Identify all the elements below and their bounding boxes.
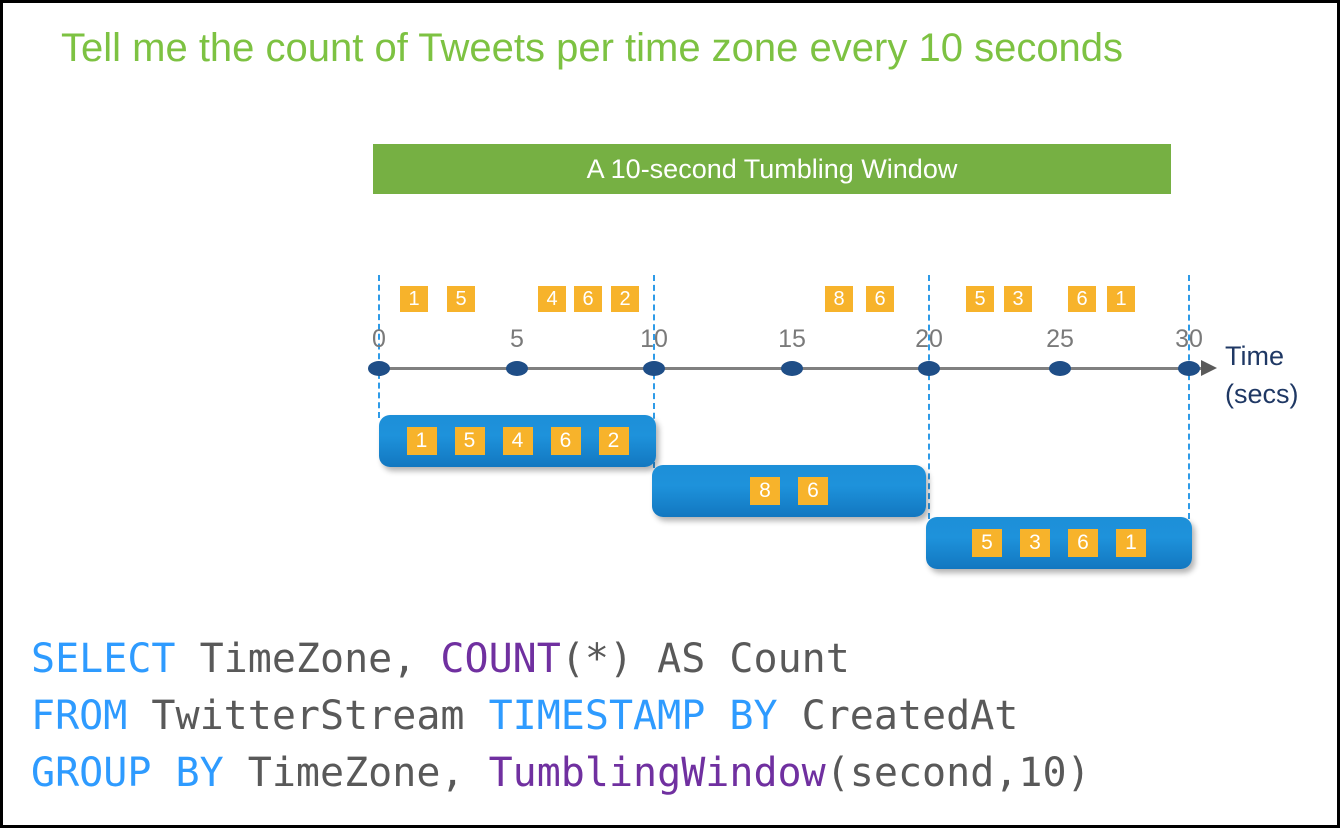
time-axis-label-line1: Time	[1225, 337, 1299, 375]
sql-line-3: GROUP BY TimeZone, TumblingWindow(second…	[31, 745, 1091, 802]
sql-keyword: TIMESTAMP BY	[489, 693, 778, 739]
sql-query-block: SELECT TimeZone, COUNT(*) AS CountFROM T…	[31, 631, 1091, 802]
event-token: 2	[611, 286, 639, 312]
axis-tick-label-15: 15	[762, 325, 822, 354]
sql-text: TwitterStream	[127, 693, 488, 739]
tumbling-window-bar-0-10: 1 5 4 6 2	[379, 415, 656, 467]
time-axis-label: Time (secs)	[1225, 337, 1299, 413]
sql-line-1: SELECT TimeZone, COUNT(*) AS Count	[31, 631, 1091, 688]
window-token: 1	[1116, 529, 1146, 557]
event-token: 1	[400, 286, 428, 312]
axis-dot-20	[918, 361, 940, 376]
window-token: 6	[1068, 529, 1098, 557]
axis-dot-30	[1178, 361, 1200, 376]
axis-dot-0	[368, 361, 390, 376]
axis-dot-15	[781, 361, 803, 376]
event-token: 1	[1107, 286, 1135, 312]
axis-tick-label-5: 5	[487, 325, 547, 354]
window-token: 6	[798, 477, 828, 505]
sql-text: (*) AS Count	[561, 636, 850, 682]
sql-text: CreatedAt	[778, 693, 1019, 739]
axis-tick-label-20: 20	[899, 325, 959, 354]
axis-dot-5	[506, 361, 528, 376]
sql-text: (second,10)	[826, 750, 1091, 796]
event-token: 8	[825, 286, 853, 312]
window-token: 1	[407, 427, 437, 455]
sql-function: TumblingWindow	[489, 750, 826, 796]
sql-keyword: FROM	[31, 693, 127, 739]
sql-text: TimeZone,	[224, 750, 489, 796]
tumbling-window-bar-20-30: 5 3 6 1	[926, 517, 1192, 569]
axis-tick-label-25: 25	[1030, 325, 1090, 354]
slide-canvas: Tell me the count of Tweets per time zon…	[0, 0, 1340, 828]
window-token: 6	[551, 427, 581, 455]
tumbling-window-bar-10-20: 8 6	[652, 465, 926, 517]
sql-function: COUNT	[440, 636, 560, 682]
event-token: 6	[866, 286, 894, 312]
axis-tick-label-10: 10	[624, 325, 684, 354]
window-token: 5	[972, 529, 1002, 557]
axis-tick-label-0: 0	[349, 325, 409, 354]
event-token: 5	[966, 286, 994, 312]
event-token: 4	[538, 286, 566, 312]
time-axis-label-line2: (secs)	[1225, 375, 1299, 413]
sql-text: TimeZone,	[176, 636, 441, 682]
sql-keyword: GROUP BY	[31, 750, 224, 796]
window-token: 4	[503, 427, 533, 455]
window-token: 2	[599, 427, 629, 455]
sql-keyword: SELECT	[31, 636, 176, 682]
sql-line-2: FROM TwitterStream TIMESTAMP BY CreatedA…	[31, 688, 1091, 745]
event-token: 6	[1068, 286, 1096, 312]
event-token: 6	[574, 286, 602, 312]
axis-dot-25	[1049, 361, 1071, 376]
axis-dot-10	[643, 361, 665, 376]
axis-tick-label-30: 30	[1159, 325, 1219, 354]
window-token: 5	[455, 427, 485, 455]
event-token: 5	[447, 286, 475, 312]
event-token: 3	[1004, 286, 1032, 312]
window-token: 3	[1020, 529, 1050, 557]
window-token: 8	[750, 477, 780, 505]
window-boundary-line-20	[928, 275, 930, 519]
time-axis-arrow-icon	[1201, 360, 1217, 376]
window-boundary-line-30	[1188, 275, 1190, 519]
